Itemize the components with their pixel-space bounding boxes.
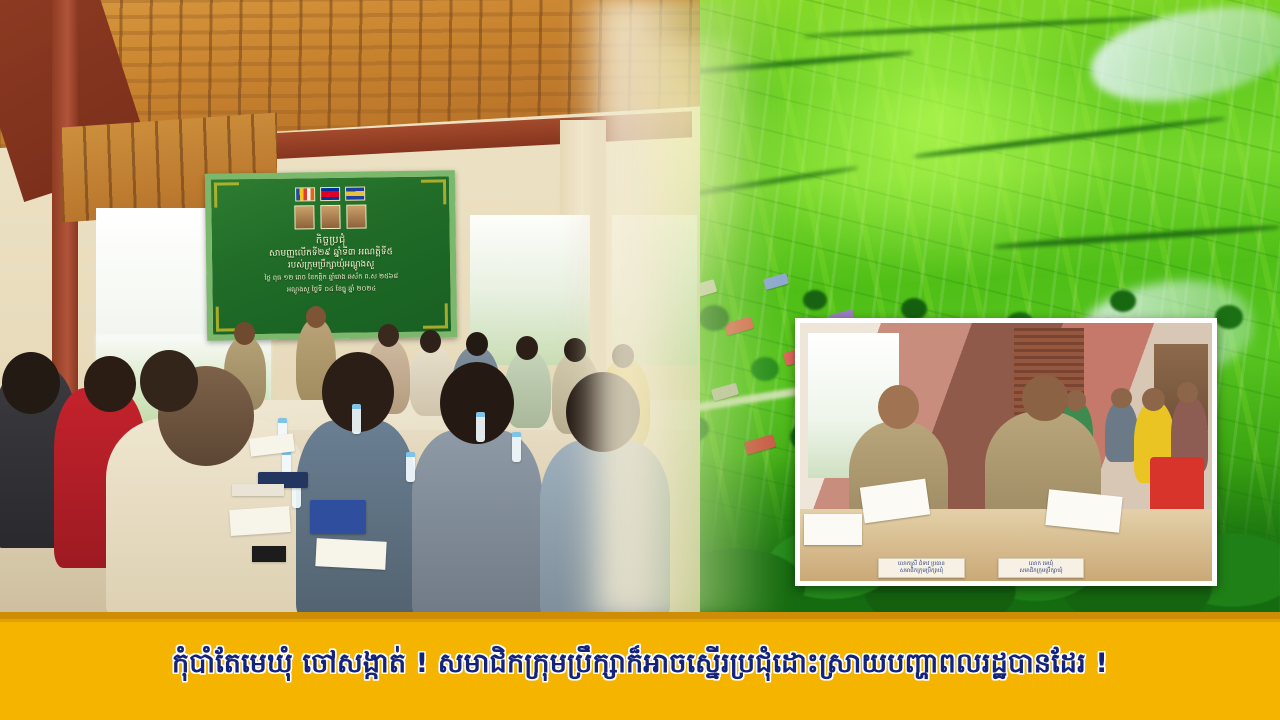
portrait-1 (294, 205, 314, 229)
tree (803, 290, 827, 310)
official-male-head (1022, 375, 1067, 421)
banner-top-stripe (0, 612, 1280, 619)
nameplate-right-line2: សមាជិកក្រុមប្រឹក្សាឃុំ (1000, 568, 1082, 575)
nameplate-left-line2: សមាជិកក្រុមប្រឹក្សាឃុំ (880, 568, 962, 575)
attendee-head-back (140, 350, 198, 412)
house-roof (743, 434, 775, 455)
poster-root: កិច្ចប្រជុំ សាមញ្ញលើកទី២៩ ឆ្នាំទី៣ អណត្ត… (0, 0, 1280, 720)
water-bottle (476, 412, 485, 442)
board-corner-ornament (423, 303, 448, 328)
cambodian-flag-icon (320, 187, 340, 201)
attendee-head-back (84, 356, 136, 412)
attendee-head (564, 338, 586, 362)
tree (1215, 305, 1243, 329)
signboard-line-5: អណ្តូងសួ ថ្ងៃទី​ ០៤ ខែធ្នូ ឆ្នាំ ២០២៤ (220, 281, 442, 296)
water-bottle (406, 452, 415, 482)
audience-head (1177, 382, 1198, 403)
attendee-head (466, 332, 488, 356)
audience-head (1142, 388, 1165, 411)
attendee-back (412, 430, 542, 615)
mobile-phone (252, 546, 286, 562)
document-paper (315, 538, 386, 570)
window-right-2 (612, 215, 697, 365)
inset-photo-frame: លោកស្រី ជំទាវ ប្រធាន សមាជិកក្រុមប្រឹក្សា… (795, 318, 1217, 586)
house-roof (763, 272, 789, 289)
water-bottle (352, 404, 361, 434)
portrait-3 (346, 205, 366, 229)
attendee-head-back (566, 372, 640, 452)
inset-photo: លោកស្រី ជំទាវ ប្រធាន សមាជិកក្រុមប្រឹក្សា… (800, 323, 1212, 581)
meeting-hall-photo: កិច្ចប្រជុំ សាមញ្ញលើកទី២៩ ឆ្នាំទី៣ អណត្ត… (0, 0, 700, 615)
flag-row (211, 185, 449, 202)
audience-head (1111, 388, 1132, 409)
tree (901, 298, 927, 320)
official-female-head (878, 385, 919, 429)
tree (1110, 290, 1136, 312)
blue-folder (310, 500, 366, 534)
official-head (234, 322, 255, 345)
attendee-head (420, 330, 441, 353)
attendee-back (540, 440, 670, 615)
audience-person (1105, 400, 1138, 462)
tree (751, 357, 779, 381)
document-sheet (804, 514, 862, 545)
speaker-head (306, 306, 326, 328)
attendee-head (378, 324, 399, 347)
nameplate-left-line1: លោកស្រី ជំទាវ ប្រធាន (880, 561, 962, 568)
nameplate-right-line1: លោក មេឃុំ (1000, 561, 1082, 568)
water-bottle (512, 432, 521, 462)
portrait-2 (320, 205, 340, 229)
document-paper (229, 506, 291, 536)
attendee-head-back (2, 352, 60, 414)
banner-top-stripe-light (0, 619, 1280, 622)
attendee-head (612, 344, 634, 368)
royal-standard-flag-icon (345, 187, 365, 201)
audience-head (1066, 390, 1087, 411)
pencil-case (232, 484, 284, 496)
buddhist-flag-icon (295, 187, 315, 201)
tree (699, 305, 729, 331)
caption-banner: កុំបាំតែមេឃុំ ចៅសង្កាត់ ! សមាជិកក្រុមប្រ… (0, 612, 1280, 720)
caption-text: កុំបាំតែមេឃុំ ចៅសង្កាត់ ! សមាជិកក្រុមប្រ… (0, 626, 1280, 706)
nameplate-left: លោកស្រី ជំទាវ ប្រធាន សមាជិកក្រុមប្រឹក្សា… (878, 558, 964, 578)
portrait-row (211, 203, 449, 230)
board-corner-ornament (214, 182, 239, 207)
house-roof (711, 383, 739, 402)
signboard-text: កិច្ចប្រជុំ សាមញ្ញលើកទី២៩ ឆ្នាំទី៣ អណត្ត… (212, 233, 451, 296)
attendee-head (516, 336, 538, 360)
red-plastic-chair (1150, 457, 1204, 514)
meeting-signboard: កិច្ចប្រជុំ សាមញ្ញលើកទី២៩ ឆ្នាំទី៣ អណត្ត… (205, 170, 457, 340)
board-corner-ornament (421, 179, 446, 204)
nameplate-right: លោក មេឃុំ សមាជិកក្រុមប្រឹក្សាឃុំ (998, 558, 1084, 578)
